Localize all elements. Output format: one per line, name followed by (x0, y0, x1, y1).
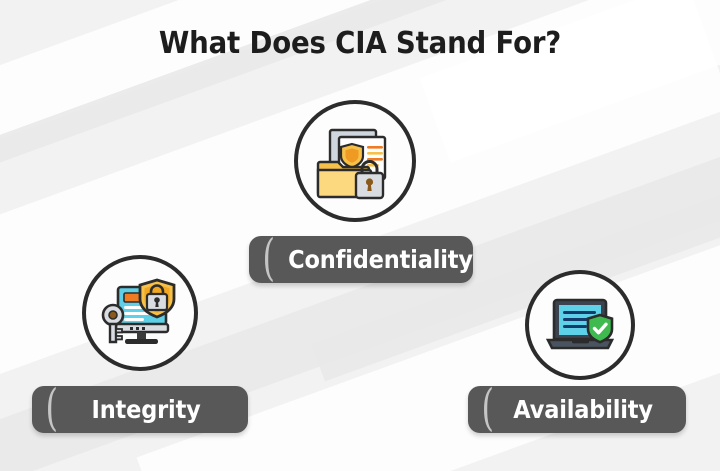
monitor-key-shield-lock-icon (98, 271, 182, 355)
icon-badge-integrity (82, 255, 198, 371)
pill-label-confidentiality: Confidentiality (288, 245, 489, 274)
icon-badge-confidentiality (294, 100, 416, 222)
label-pill-availability[interactable]: ( Availability (468, 386, 686, 433)
pill-label-integrity: Integrity (69, 395, 239, 424)
icon-badge-availability (525, 270, 635, 380)
page-title: What Does CIA Stand For? (29, 26, 691, 61)
document-folder-lock-icon (312, 118, 398, 204)
label-pill-confidentiality[interactable]: ( Confidentiality (249, 236, 473, 283)
label-pill-integrity[interactable]: ( Integrity (32, 386, 248, 433)
laptop-shield-check-icon (540, 285, 620, 365)
pill-label-availability: Availability (505, 395, 676, 424)
